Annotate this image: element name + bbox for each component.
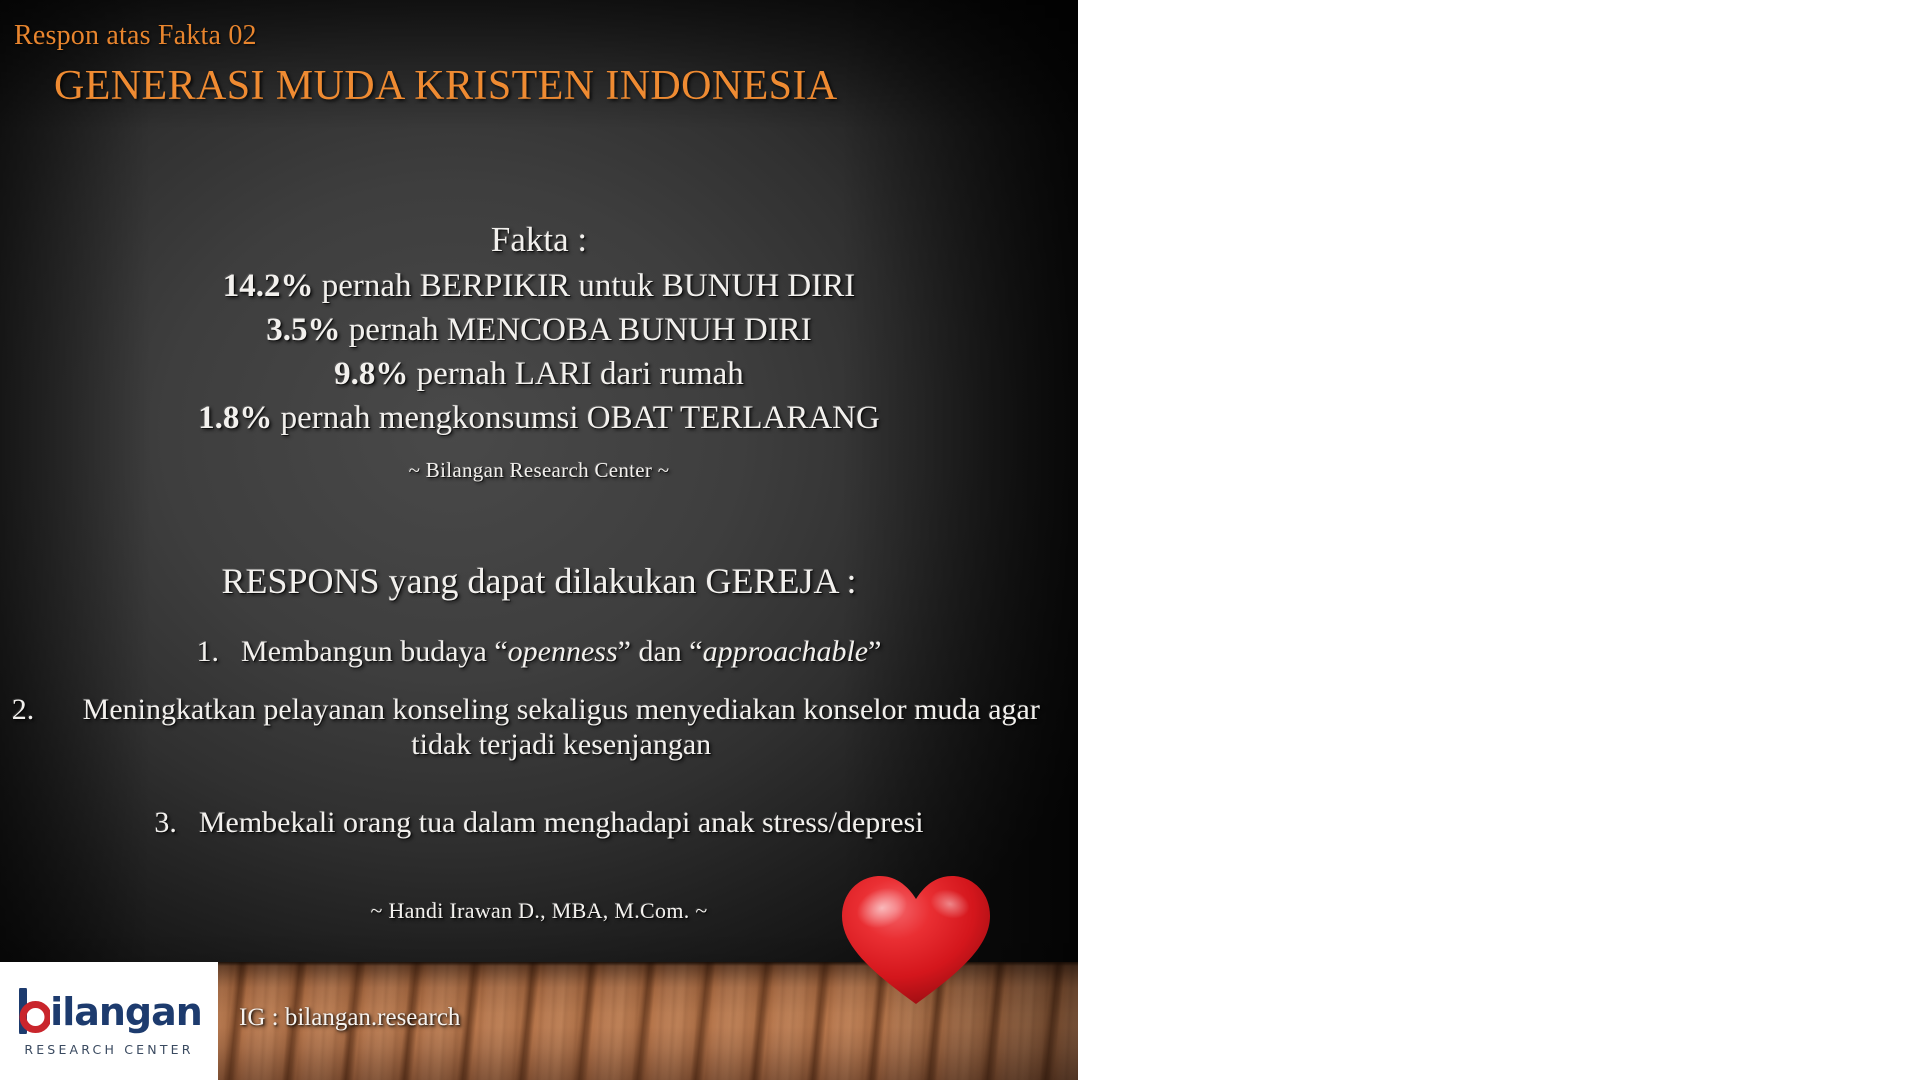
fact-text: pernah BERPIKIR untuk BUNUH DIRI <box>314 268 856 304</box>
fact-value: 1.8% <box>198 400 272 436</box>
instagram-handle: IG : bilangan.research <box>239 1004 460 1032</box>
response-item: 2. Meningkatkan pelayanan konseling seka… <box>0 692 1078 763</box>
facts-source: ~ Bilangan Research Center ~ <box>0 458 1078 483</box>
response-item: 3. Membekali orang tua dalam menghadapi … <box>0 805 1078 840</box>
heart-icon <box>838 868 994 1008</box>
fact-row: 1.8% pernah mengkonsumsi OBAT TERLARANG <box>0 400 1078 437</box>
response-heading: RESPONS yang dapat dilakukan GEREJA : <box>0 560 1078 602</box>
logo-wordmark: ilangan <box>50 993 202 1031</box>
response-number: 1. <box>197 635 220 669</box>
logo-tagline: RESEARCH CENTER <box>24 1042 193 1057</box>
slide-kicker: Respon atas Fakta 02 <box>14 20 257 52</box>
slide-canvas: Respon atas Fakta 02 GENERASI MUDA KRIST… <box>0 0 1078 1080</box>
fact-row: 3.5% pernah MENCOBA BUNUH DIRI <box>0 312 1078 349</box>
response-item: 1. Membangun budaya “openness” dan “appr… <box>0 635 1078 669</box>
bilangan-logo-card: ilangan RESEARCH CENTER <box>0 962 218 1080</box>
response-number: 2. <box>12 692 35 727</box>
fact-text: pernah LARI dari rumah <box>408 356 743 392</box>
fact-row: 9.8% pernah LARI dari rumah <box>0 356 1078 393</box>
facts-heading: Fakta : <box>0 220 1078 260</box>
fact-value: 9.8% <box>334 356 408 392</box>
response-text: Membangun budaya “openness” dan “approac… <box>241 635 881 669</box>
response-text: Meningkatkan pelayanan konseling sekalig… <box>56 692 1066 763</box>
response-text: Membekali orang tua dalam menghadapi ana… <box>199 805 924 840</box>
fact-text: pernah MENCOBA BUNUH DIRI <box>341 312 812 348</box>
response-number: 3. <box>154 805 177 840</box>
fact-value: 14.2% <box>223 268 314 304</box>
slide-title: GENERASI MUDA KRISTEN INDONESIA <box>54 62 838 110</box>
fact-text: pernah mengkonsumsi OBAT TERLARANG <box>272 400 879 436</box>
blank-right-area <box>1078 0 1920 1080</box>
fact-value: 3.5% <box>266 312 340 348</box>
logo-b-icon <box>16 988 50 1034</box>
fact-row: 14.2% pernah BERPIKIR untuk BUNUH DIRI <box>0 268 1078 305</box>
logo-mark: ilangan <box>16 986 202 1036</box>
